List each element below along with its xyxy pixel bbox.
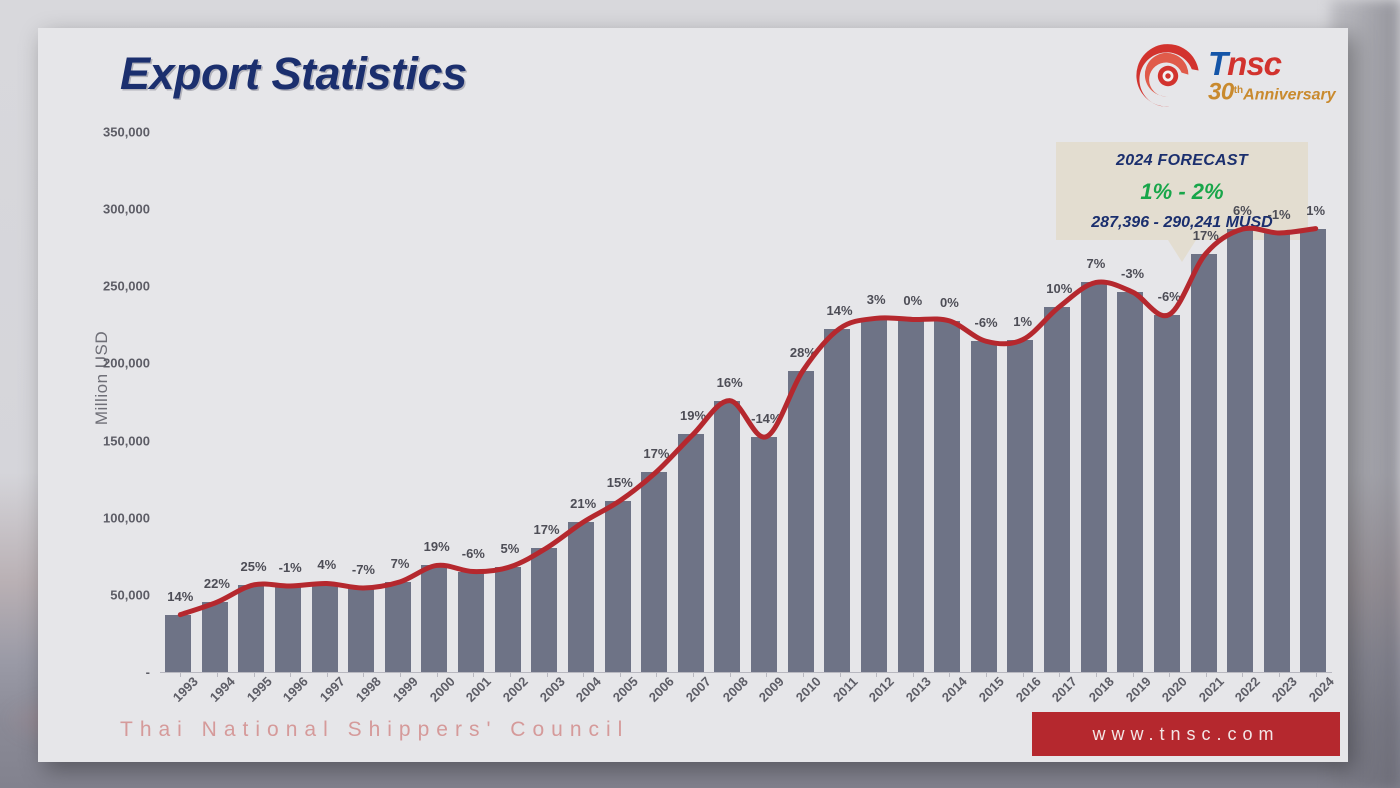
x-axis-label: 2011 [830,674,861,705]
page-title: Export Statistics [120,48,467,100]
x-label-column: 2015 [968,132,1005,702]
x-axis-label: 2021 [1196,674,1227,705]
x-axis-label: 2023 [1269,674,1300,705]
anniversary-ordinal: th [1234,85,1243,96]
x-axis-label: 2000 [426,674,457,705]
x-axis-label: 2010 [793,674,824,705]
x-axis-label: 2013 [903,674,934,705]
x-axis-label: 2015 [976,674,1007,705]
y-axis-tick: - [42,665,150,680]
x-axis-label: 1999 [390,674,421,705]
x-label-column: 2001 [455,132,492,702]
x-label-column: 2023 [1261,132,1298,702]
y-axis-tick: 150,000 [42,433,150,448]
brand-letter-t: T [1208,45,1227,82]
y-axis-tick: 250,000 [42,279,150,294]
x-axis-label: 2018 [1086,674,1117,705]
x-label-column: 2004 [565,132,602,702]
x-axis-label: 2009 [756,674,787,705]
x-label-column: 1994 [199,132,236,702]
x-axis-label: 1996 [280,674,311,705]
x-axis-labels: 1993199419951996199719981999200020012002… [162,132,1334,702]
anniversary-word: Anniversary [1243,86,1336,103]
x-label-column: 2011 [821,132,858,702]
x-label-column: 2014 [931,132,968,702]
x-axis-label: 2022 [1232,674,1263,705]
x-label-column: 2020 [1151,132,1188,702]
x-axis-label: 2008 [719,674,750,705]
x-axis-label: 2006 [646,674,677,705]
y-axis-ticks: -50,000100,000150,000200,000250,000300,0… [38,132,150,702]
x-label-column: 2000 [418,132,455,702]
x-label-column: 2017 [1041,132,1078,702]
x-axis-label: 2012 [866,674,897,705]
y-axis-tick: 300,000 [42,202,150,217]
x-label-column: 2021 [1188,132,1225,702]
x-label-column: 2005 [602,132,639,702]
x-axis-label: 2007 [683,674,714,705]
x-axis-label: 2014 [939,674,970,705]
x-label-column: 1997 [309,132,346,702]
y-axis-tick: 100,000 [42,510,150,525]
x-label-column: 2019 [1114,132,1151,702]
brand-letters-nsc: nsc [1227,45,1281,82]
x-axis-label: 2005 [610,674,641,705]
y-axis-tick: 350,000 [42,125,150,140]
tnsc-logo: Tnsc 30thAnniversary [1134,36,1340,120]
x-label-column: 2013 [895,132,932,702]
x-axis-label: 2019 [1122,674,1153,705]
x-label-column: 2016 [1004,132,1041,702]
x-label-column: 2007 [675,132,712,702]
tnsc-spiral-icon [1134,42,1202,110]
website-url: www.tnsc.com [1092,724,1279,745]
organization-footer: Thai National Shippers' Council [120,718,629,742]
x-label-column: 1996 [272,132,309,702]
x-label-column: 2008 [711,132,748,702]
x-label-column: 2009 [748,132,785,702]
x-label-column: 1998 [345,132,382,702]
x-axis-label: 2020 [1159,674,1190,705]
x-axis-label: 1994 [207,674,238,705]
x-axis-label: 2001 [463,674,494,705]
x-axis-label: 2002 [500,674,531,705]
x-axis-label: 2016 [1012,674,1043,705]
x-axis-label: 1995 [243,674,274,705]
x-label-column: 2022 [1224,132,1261,702]
x-label-column: 2010 [785,132,822,702]
tnsc-wordmark: Tnsc 30thAnniversary [1208,48,1336,106]
x-axis-label: 2024 [1305,674,1336,705]
x-label-column: 2012 [858,132,895,702]
x-label-column: 1999 [382,132,419,702]
website-banner[interactable]: www.tnsc.com [1032,712,1340,756]
x-axis-label: 2017 [1049,674,1080,705]
chart-plot-area: Million USD -50,000100,000150,000200,000… [38,132,1348,702]
y-axis-tick: 200,000 [42,356,150,371]
x-label-column: 1995 [235,132,272,702]
x-label-column: 1993 [162,132,199,702]
anniversary-line: 30thAnniversary [1208,80,1336,106]
x-label-column: 2002 [492,132,529,702]
x-label-column: 2024 [1297,132,1334,702]
x-axis-label: 2003 [536,674,567,705]
x-label-column: 2018 [1078,132,1115,702]
tnsc-brand: Tnsc [1208,48,1336,80]
x-label-column: 2006 [638,132,675,702]
x-axis-label: 1993 [170,674,201,705]
presentation-slide: Export Statistics Tnsc 30thAnniversary 2… [38,28,1348,762]
x-axis-label: 2004 [573,674,604,705]
x-axis-label: 1998 [353,674,384,705]
y-axis-tick: 50,000 [42,587,150,602]
x-axis-label: 1997 [317,674,348,705]
x-label-column: 2003 [528,132,565,702]
anniversary-number: 30 [1208,78,1234,105]
